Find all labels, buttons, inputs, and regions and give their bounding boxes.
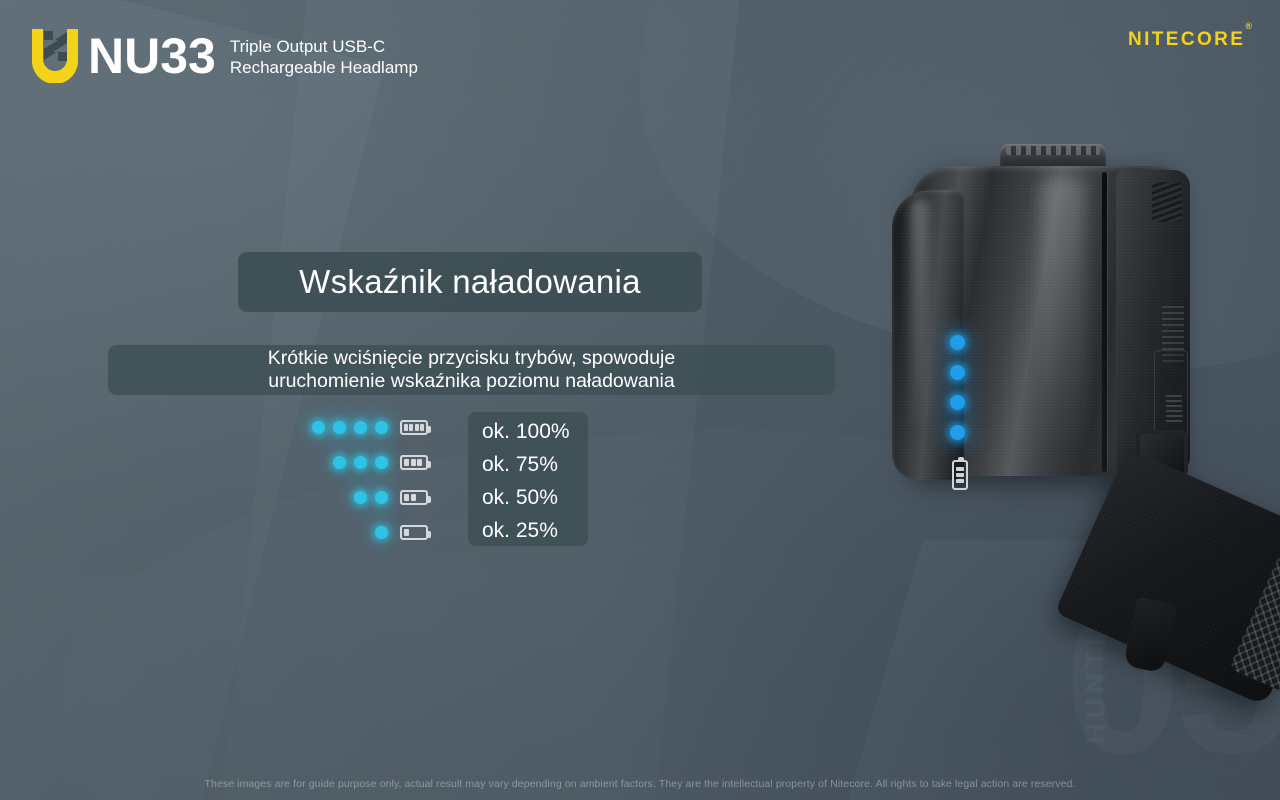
product-led: [950, 425, 965, 440]
led-dot: [375, 456, 388, 469]
legal-disclaimer: These images are for guide purpose only,…: [0, 778, 1280, 790]
section-title-plate: Wskaźnik naładowania: [238, 252, 702, 312]
nitecore-wordmark-text: NITECORE: [1128, 29, 1245, 50]
led-dot: [333, 456, 346, 469]
bg-shape-6: [0, 533, 720, 800]
nitecore-wordmark: NITECORE®: [1128, 29, 1252, 51]
led-dot: [312, 421, 325, 434]
body-seam: [1102, 172, 1107, 472]
body-highlight: [1040, 178, 1086, 458]
headlamp-vent: [1152, 182, 1182, 222]
led-dot: [354, 421, 367, 434]
registered-mark: ®: [1245, 21, 1252, 31]
page-title: Wskaźnik naładowania: [299, 263, 641, 301]
led-dot-group: [300, 515, 392, 550]
bg-shape-2: [207, 0, 758, 800]
brand-block: NU33 Triple Output USB-C Rechargeable He…: [88, 28, 418, 84]
charge-percent-value: ok. 75%: [482, 448, 588, 481]
product-battery-icon: [952, 460, 968, 490]
led-dot: [375, 526, 388, 539]
battery-icon: [392, 515, 436, 550]
battery-icon: [392, 445, 436, 480]
nu33-headlamp-image: [880, 130, 1280, 690]
product-led-indicator-group: [950, 335, 978, 455]
section-subtitle-plate: Krótkie wciśnięcie przycisku trybów, spo…: [108, 345, 835, 395]
tagline-line-2: Rechargeable Headlamp: [230, 57, 418, 78]
slide-canvas: 05 HUNTING NU33 Triple Output USB-C Rech…: [0, 0, 1280, 800]
product-tagline: Triple Output USB-C Rechargeable Headlam…: [230, 36, 418, 78]
battery-icon: [392, 480, 436, 515]
tagline-line-1: Triple Output USB-C: [230, 36, 418, 57]
product-led: [950, 395, 965, 410]
led-dot: [354, 491, 367, 504]
led-dot: [333, 421, 346, 434]
charge-percent-plate: ok. 100% ok. 75% ok. 50% ok. 25%: [468, 412, 588, 546]
page-header: NU33 Triple Output USB-C Rechargeable He…: [0, 0, 1280, 100]
subtitle-line-2: uruchomienie wskaźnika poziomu naładowan…: [268, 370, 674, 393]
charge-percent-value: ok. 50%: [482, 481, 588, 514]
bg-shape-1: [0, 0, 385, 800]
charge-percent-value: ok. 100%: [482, 415, 588, 448]
body-highlight: [910, 198, 928, 428]
led-dot: [375, 491, 388, 504]
led-dot-group: [300, 445, 392, 480]
led-dot-group: [300, 480, 392, 515]
nitecore-u-logo-icon: [30, 29, 80, 83]
led-dot: [354, 456, 367, 469]
led-dot: [375, 421, 388, 434]
product-led: [950, 365, 965, 380]
usb-c-icon: [1166, 392, 1182, 422]
product-model: NU33: [88, 28, 216, 84]
led-dot-group: [300, 410, 392, 445]
subtitle-line-1: Krótkie wciśnięcie przycisku trybów, spo…: [268, 347, 676, 370]
battery-icon: [392, 410, 436, 445]
charge-percent-value: ok. 25%: [482, 514, 588, 547]
product-led: [950, 335, 965, 350]
